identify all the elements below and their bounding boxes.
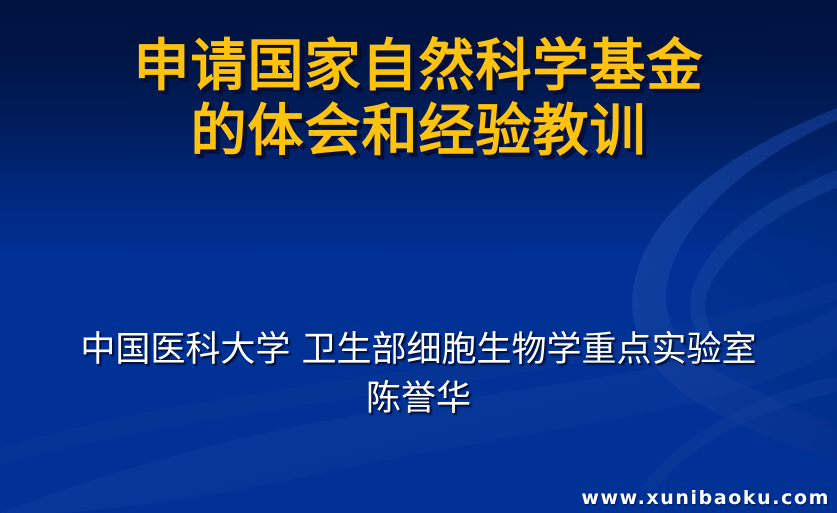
- subtitle-author-name: 陈誉华: [0, 380, 837, 419]
- slide-subtitle: 中国医科大学 卫生部细胞生物学重点实验室 陈誉华: [0, 331, 837, 419]
- presentation-slide: 申请国家自然科学基金 的体会和经验教训 中国医科大学 卫生部细胞生物学重点实验室…: [0, 0, 837, 513]
- slide-title: 申请国家自然科学基金 的体会和经验教训: [0, 38, 837, 160]
- site-watermark: www.xunibaoku.com: [581, 487, 830, 509]
- title-line-2: 的体会和经验教训: [0, 103, 837, 160]
- subtitle-affiliation: 中国医科大学 卫生部细胞生物学重点实验室: [0, 331, 837, 370]
- title-line-1: 申请国家自然科学基金: [0, 38, 837, 95]
